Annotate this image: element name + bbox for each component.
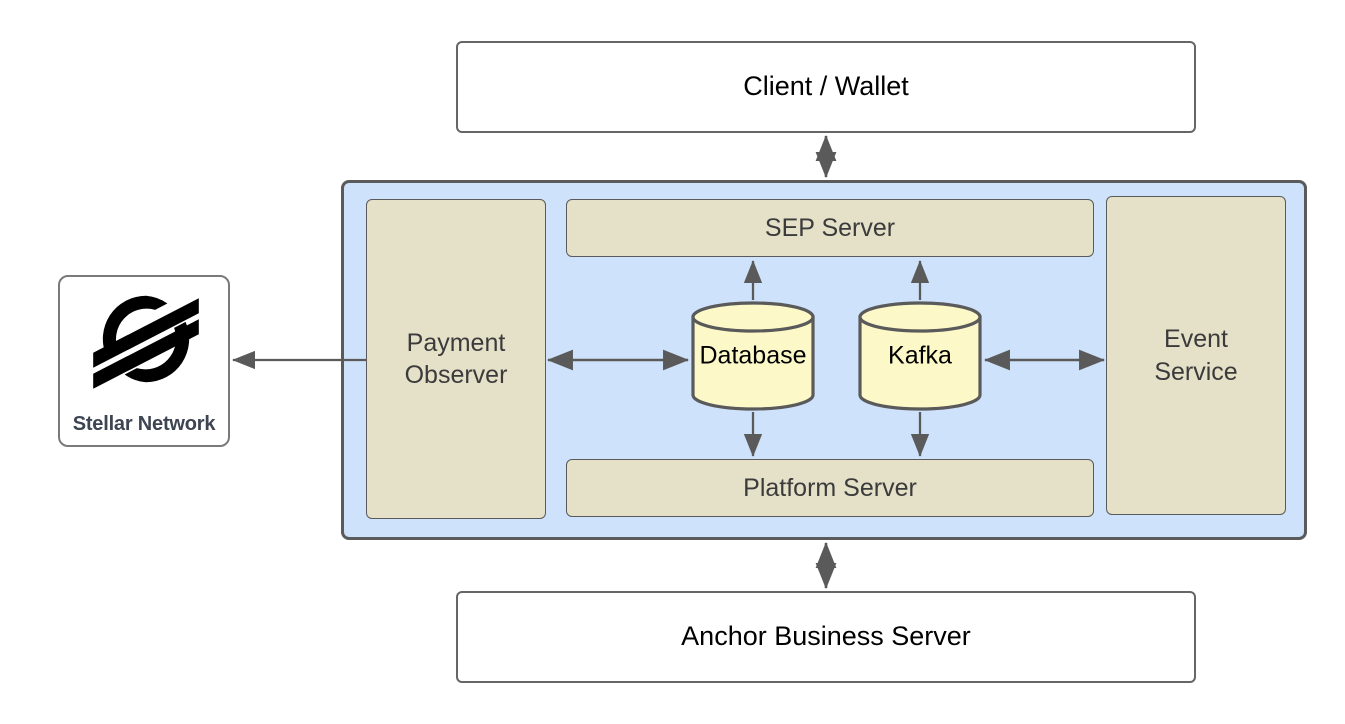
node-anchor-business-server[interactable]: Anchor Business Server [456, 591, 1196, 683]
node-sep-server-label: SEP Server [765, 212, 895, 245]
node-payment-observer-label-line1: Payment [407, 327, 506, 360]
node-client-wallet[interactable]: Client / Wallet [456, 41, 1196, 133]
node-event-service-label-line1: Event [1164, 323, 1228, 356]
node-platform-server-label: Platform Server [743, 472, 917, 505]
node-payment-observer[interactable]: Payment Observer [366, 199, 546, 519]
node-event-service-label-line2: Service [1154, 356, 1237, 389]
node-stellar-network-label: Stellar Network [60, 413, 228, 436]
node-database-label: Database [699, 342, 806, 371]
node-client-wallet-label: Client / Wallet [743, 70, 909, 104]
node-payment-observer-label-line2: Observer [405, 359, 508, 392]
node-kafka-label: Kafka [888, 342, 952, 371]
diagram-canvas: Client / Wallet Payment Observer SEP Ser… [0, 0, 1345, 724]
node-kafka[interactable]: Kafka [857, 300, 983, 412]
node-anchor-business-server-label: Anchor Business Server [681, 620, 971, 654]
node-platform-server[interactable]: Platform Server [566, 459, 1094, 517]
node-event-service[interactable]: Event Service [1106, 196, 1286, 515]
node-stellar-network[interactable]: Stellar Network [58, 275, 230, 447]
node-sep-server[interactable]: SEP Server [566, 199, 1094, 257]
stellar-logo-icon [72, 285, 220, 405]
node-database[interactable]: Database [690, 300, 816, 412]
